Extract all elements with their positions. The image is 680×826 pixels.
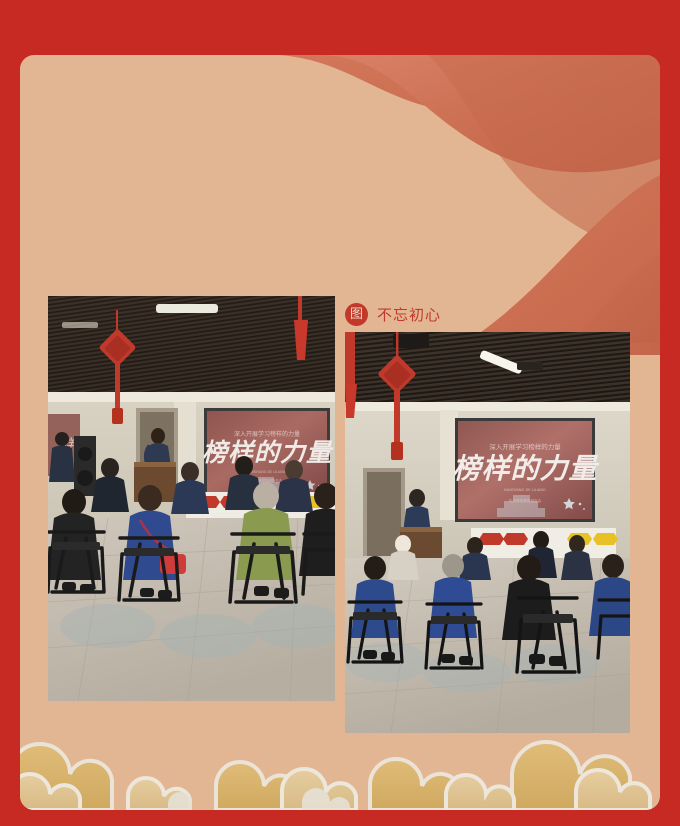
photo-left[interactable]: 深入开展学习榜样的力量 榜样的力量 BANGYANG DE LILIANG 先进… (48, 296, 335, 701)
svg-text:BANGYANG DE LILIANG: BANGYANG DE LILIANG (504, 488, 546, 492)
caption-label: 不忘初心 (377, 304, 441, 325)
image-badge-icon: 图 (345, 303, 368, 326)
poster-page: 深入开展学习榜样的力量 榜样的力量 BANGYANG DE LILIANG 先进… (0, 0, 680, 826)
photo-caption-row: 图 不忘初心 (345, 301, 441, 327)
photo-right[interactable]: 深入开展学习榜样的力量 榜样的力量 BANGYANG DE LILIANG 先进… (345, 332, 630, 733)
svg-text:榜样的力量: 榜样的力量 (202, 438, 334, 467)
svg-text:榜样的力量: 榜样的力量 (452, 452, 599, 485)
svg-text:BANGYANG DE LILIANG: BANGYANG DE LILIANG (247, 470, 286, 474)
svg-text:深入开展学习榜样的力量: 深入开展学习榜样的力量 (489, 442, 561, 451)
poster-card: 深入开展学习榜样的力量 榜样的力量 BANGYANG DE LILIANG 先进… (20, 55, 660, 810)
svg-text:深入开展学习榜样的力量: 深入开展学习榜样的力量 (234, 430, 300, 438)
